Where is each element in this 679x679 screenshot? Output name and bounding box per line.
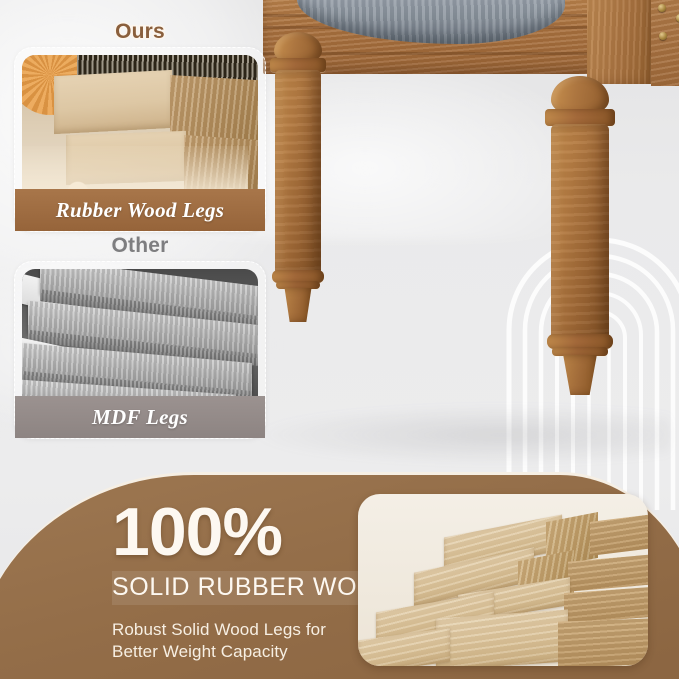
- comparison-title-other: Other: [14, 234, 266, 258]
- nailhead-trim-icon: [659, 32, 667, 40]
- product-feature-image: Ours Rubber Wood Legs Other: [0, 0, 679, 679]
- comparison-card-other[interactable]: MDF Legs: [14, 261, 266, 439]
- comparison-card-ours[interactable]: Rubber Wood Legs: [14, 47, 266, 232]
- lumber-plank: [564, 587, 648, 623]
- comparison-caption-ours: Rubber Wood Legs: [15, 189, 265, 231]
- furniture-leg-left: [255, 32, 341, 322]
- banner-lumber-photo: [358, 494, 648, 666]
- lumber-plank: [358, 628, 450, 666]
- banner-headline-wrap: SOLID RUBBER WOOD: [112, 571, 398, 604]
- lumber-plank: [590, 514, 648, 556]
- wood-block-upper: [54, 70, 172, 134]
- comparison-title-ours: Ours: [14, 20, 266, 44]
- comparison-caption-other: MDF Legs: [15, 396, 265, 438]
- bench-side-panel: [651, 0, 679, 86]
- hero-furniture-photo: [255, 0, 679, 456]
- lumber-plank: [436, 609, 568, 666]
- nailhead-trim-icon: [658, 4, 666, 12]
- banner-headline: SOLID RUBBER WOOD: [112, 574, 396, 600]
- lumber-plank: [558, 618, 648, 666]
- lumber-plank: [568, 554, 648, 592]
- furniture-leg-right: [530, 76, 630, 396]
- bench-corner-post: [587, 0, 655, 84]
